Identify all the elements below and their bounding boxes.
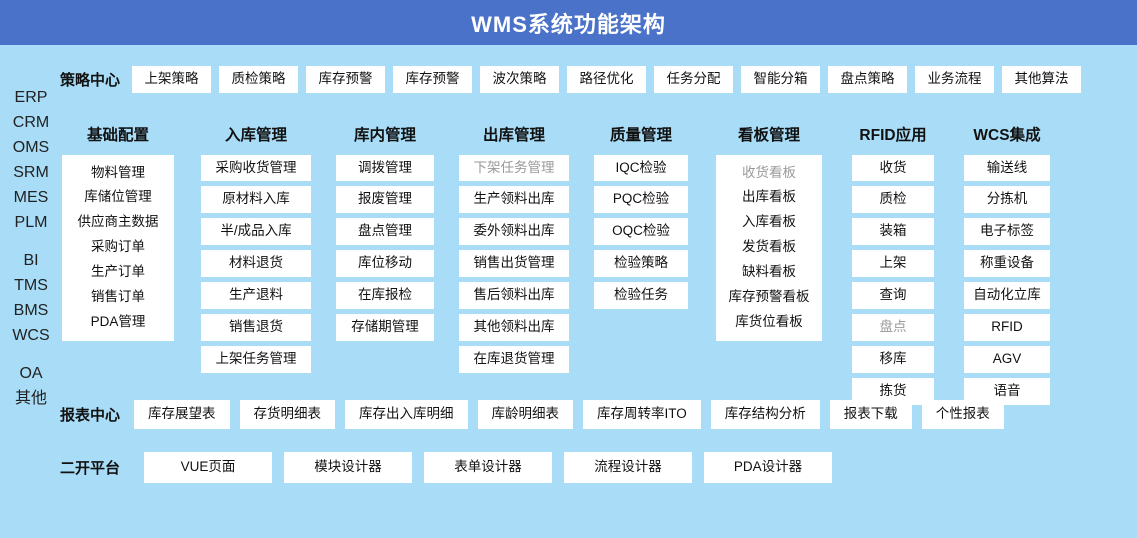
- module-item[interactable]: 委外领料出库: [459, 218, 569, 245]
- strategy-chip[interactable]: 盘点策略: [828, 66, 907, 93]
- module-item[interactable]: OQC检验: [594, 218, 688, 245]
- module-column: 基础配置物料管理库储位管理供应商主数据采购订单生产订单销售订单PDA管理: [62, 128, 174, 405]
- strategy-chip[interactable]: 智能分箱: [741, 66, 820, 93]
- module-item[interactable]: 检验策略: [594, 250, 688, 277]
- module-item[interactable]: 下架任务管理: [459, 155, 569, 182]
- module-item[interactable]: 销售退货: [201, 314, 311, 341]
- module-item[interactable]: 收货: [852, 155, 934, 182]
- module-item[interactable]: 缺料看板: [724, 260, 814, 285]
- module-item[interactable]: 半/成品入库: [201, 218, 311, 245]
- module-item[interactable]: 盘点管理: [336, 218, 434, 245]
- module-item[interactable]: 物料管理: [70, 161, 166, 186]
- column-items: 下架任务管理生产领料出库委外领料出库销售出货管理售后领料出库其他领料出库在库退货…: [459, 155, 569, 373]
- module-item[interactable]: 原材料入库: [201, 186, 311, 213]
- module-item[interactable]: 存储期管理: [336, 314, 434, 341]
- report-chip[interactable]: 库存周转率ITO: [583, 400, 701, 429]
- strategy-chip[interactable]: 业务流程: [915, 66, 994, 93]
- module-item[interactable]: 检验任务: [594, 282, 688, 309]
- module-item[interactable]: 收货看板: [724, 161, 814, 186]
- module-column: WCS集成输送线分拣机电子标签称重设备自动化立库RFIDAGV语音: [964, 128, 1050, 405]
- column-title: RFID应用: [859, 128, 926, 144]
- column-title: 质量管理: [610, 128, 672, 144]
- column-items: 输送线分拣机电子标签称重设备自动化立库RFIDAGV语音: [964, 155, 1050, 405]
- report-chip[interactable]: 库存出入库明细: [345, 400, 468, 429]
- report-chip[interactable]: 库存展望表: [134, 400, 230, 429]
- module-column: 看板管理收货看板出库看板入库看板发货看板缺料看板库存预警看板库货位看板: [716, 128, 822, 405]
- architecture-diagram: WMS系统功能架构 ERPCRMOMSSRMMESPLMBITMSBMSWCSO…: [0, 0, 1137, 538]
- strategy-center-label: 策略中心: [60, 69, 120, 90]
- module-item[interactable]: 在库退货管理: [459, 346, 569, 373]
- module-item[interactable]: 生产领料出库: [459, 186, 569, 213]
- dev-chip[interactable]: VUE页面: [144, 452, 272, 483]
- strategy-chip[interactable]: 其他算法: [1002, 66, 1081, 93]
- column-title: 看板管理: [738, 128, 800, 144]
- module-item[interactable]: 在库报检: [336, 282, 434, 309]
- module-item[interactable]: 生产退料: [201, 282, 311, 309]
- module-columns: 基础配置物料管理库储位管理供应商主数据采购订单生产订单销售订单PDA管理入库管理…: [0, 128, 1137, 405]
- module-column: 质量管理IQC检验PQC检验OQC检验检验策略检验任务: [594, 128, 688, 405]
- module-item[interactable]: 装箱: [852, 218, 934, 245]
- strategy-chip[interactable]: 波次策略: [480, 66, 559, 93]
- module-item[interactable]: 库储位管理: [70, 185, 166, 210]
- report-chip[interactable]: 报表下载: [830, 400, 912, 429]
- module-item[interactable]: AGV: [964, 346, 1050, 373]
- dev-chip[interactable]: PDA设计器: [704, 452, 832, 483]
- report-center-row: 报表中心 库存展望表存货明细表库存出入库明细库龄明细表库存周转率ITO库存结构分…: [60, 400, 1004, 429]
- report-chip[interactable]: 库存结构分析: [711, 400, 820, 429]
- dev-platform-row: 二开平台 VUE页面模块设计器表单设计器流程设计器PDA设计器: [60, 452, 832, 483]
- module-item[interactable]: 查询: [852, 282, 934, 309]
- module-item[interactable]: 库存预警看板: [724, 285, 814, 310]
- dev-platform-label: 二开平台: [60, 457, 120, 478]
- module-item[interactable]: 电子标签: [964, 218, 1050, 245]
- module-item[interactable]: IQC检验: [594, 155, 688, 182]
- report-items: 库存展望表存货明细表库存出入库明细库龄明细表库存周转率ITO库存结构分析报表下载…: [134, 400, 1004, 429]
- column-items: 收货看板出库看板入库看板发货看板缺料看板库存预警看板库货位看板: [716, 155, 822, 341]
- module-item[interactable]: 其他领料出库: [459, 314, 569, 341]
- strategy-chip[interactable]: 库存预警: [306, 66, 385, 93]
- module-column: 出库管理下架任务管理生产领料出库委外领料出库销售出货管理售后领料出库其他领料出库…: [459, 128, 569, 405]
- strategy-center-row: 策略中心 上架策略质检策略库存预警库存预警波次策略路径优化任务分配智能分箱盘点策…: [60, 66, 1081, 93]
- column-title: WCS集成: [973, 128, 1040, 144]
- page-title: WMS系统功能架构: [471, 7, 666, 39]
- module-column: RFID应用收货质检装箱上架查询盘点移库拣货: [852, 128, 934, 405]
- module-item[interactable]: 供应商主数据: [70, 210, 166, 235]
- module-item[interactable]: 上架任务管理: [201, 346, 311, 373]
- report-chip[interactable]: 存货明细表: [240, 400, 336, 429]
- module-item[interactable]: PQC检验: [594, 186, 688, 213]
- module-column: 入库管理采购收货管理原材料入库半/成品入库材料退货生产退料销售退货上架任务管理: [201, 128, 311, 405]
- column-items: 物料管理库储位管理供应商主数据采购订单生产订单销售订单PDA管理: [62, 155, 174, 341]
- page-header: WMS系统功能架构: [0, 0, 1137, 45]
- module-item[interactable]: PDA管理: [70, 310, 166, 335]
- strategy-chip[interactable]: 路径优化: [567, 66, 646, 93]
- column-title: 入库管理: [225, 128, 287, 144]
- module-item[interactable]: 库货位看板: [724, 310, 814, 335]
- module-item[interactable]: 销售出货管理: [459, 250, 569, 277]
- report-chip[interactable]: 库龄明细表: [478, 400, 574, 429]
- rail-item-erp[interactable]: ERP: [15, 90, 48, 106]
- module-item[interactable]: 上架: [852, 250, 934, 277]
- module-item[interactable]: 入库看板: [724, 210, 814, 235]
- module-item[interactable]: 分拣机: [964, 186, 1050, 213]
- module-column: 库内管理调拨管理报废管理盘点管理库位移动在库报检存储期管理: [336, 128, 434, 405]
- report-chip[interactable]: 个性报表: [922, 400, 1004, 429]
- column-title: 出库管理: [483, 128, 545, 144]
- module-item[interactable]: 采购订单: [70, 235, 166, 260]
- column-items: 调拨管理报废管理盘点管理库位移动在库报检存储期管理: [336, 155, 434, 341]
- column-title: 库内管理: [354, 128, 416, 144]
- module-item[interactable]: 自动化立库: [964, 282, 1050, 309]
- column-items: 收货质检装箱上架查询盘点移库拣货: [852, 155, 934, 405]
- module-item[interactable]: 质检: [852, 186, 934, 213]
- module-item[interactable]: 生产订单: [70, 260, 166, 285]
- module-item[interactable]: 材料退货: [201, 250, 311, 277]
- module-item[interactable]: RFID: [964, 314, 1050, 341]
- module-item[interactable]: 出库看板: [724, 185, 814, 210]
- strategy-chip[interactable]: 任务分配: [654, 66, 733, 93]
- column-items: IQC检验PQC检验OQC检验检验策略检验任务: [594, 155, 688, 309]
- module-item[interactable]: 盘点: [852, 314, 934, 341]
- report-center-label: 报表中心: [60, 404, 120, 425]
- module-item[interactable]: 输送线: [964, 155, 1050, 182]
- strategy-chip[interactable]: 质检策略: [219, 66, 298, 93]
- dev-items: VUE页面模块设计器表单设计器流程设计器PDA设计器: [144, 452, 832, 483]
- strategy-chip[interactable]: 上架策略: [132, 66, 211, 93]
- module-item[interactable]: 发货看板: [724, 235, 814, 260]
- module-item[interactable]: 销售订单: [70, 285, 166, 310]
- dev-chip[interactable]: 流程设计器: [564, 452, 692, 483]
- dev-chip[interactable]: 模块设计器: [284, 452, 412, 483]
- module-item[interactable]: 调拨管理: [336, 155, 434, 182]
- column-items: 采购收货管理原材料入库半/成品入库材料退货生产退料销售退货上架任务管理: [201, 155, 311, 373]
- module-item[interactable]: 称重设备: [964, 250, 1050, 277]
- column-title: 基础配置: [87, 128, 149, 144]
- strategy-items: 上架策略质检策略库存预警库存预警波次策略路径优化任务分配智能分箱盘点策略业务流程…: [132, 66, 1081, 93]
- module-item[interactable]: 移库: [852, 346, 934, 373]
- module-item[interactable]: 报废管理: [336, 186, 434, 213]
- dev-chip[interactable]: 表单设计器: [424, 452, 552, 483]
- module-item[interactable]: 采购收货管理: [201, 155, 311, 182]
- module-item[interactable]: 库位移动: [336, 250, 434, 277]
- strategy-chip[interactable]: 库存预警: [393, 66, 472, 93]
- module-item[interactable]: 售后领料出库: [459, 282, 569, 309]
